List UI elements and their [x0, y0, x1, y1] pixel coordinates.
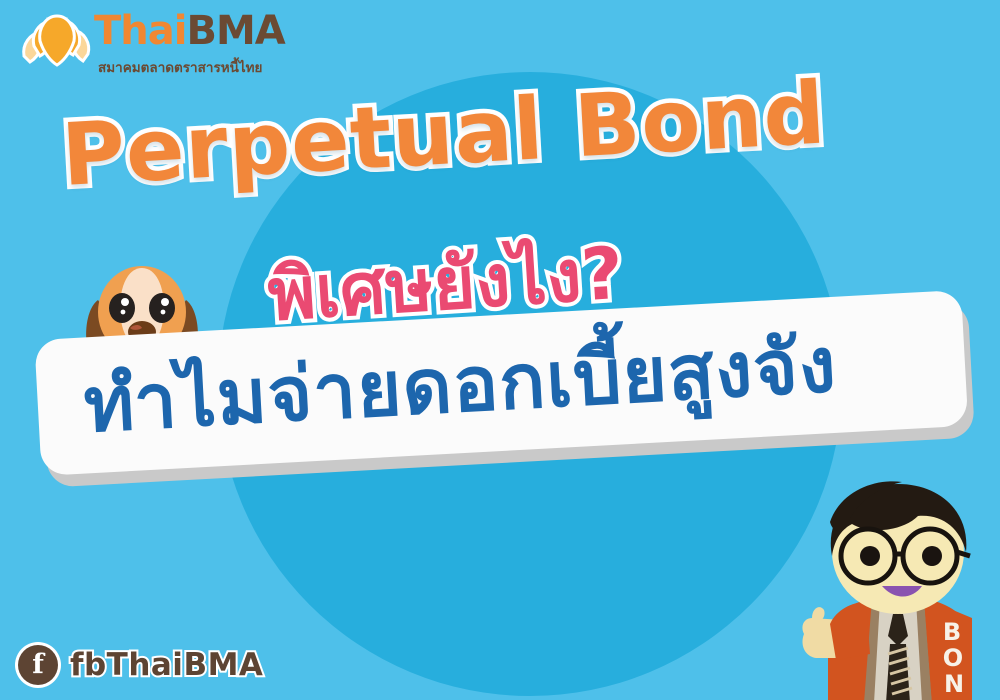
- logo-wordmark: ThaiBMA: [94, 8, 294, 60]
- facebook-handle[interactable]: fbThaiBMA: [70, 648, 263, 682]
- jacket-letter-n: N: [944, 670, 964, 698]
- logo-word-bma: BMA: [186, 8, 284, 54]
- lotus-flower-icon: [18, 10, 96, 76]
- facebook-glyph: f: [32, 651, 44, 678]
- facebook-footer[interactable]: f fbThaiBMA: [18, 644, 263, 686]
- bond-boy-mascot: B O N: [790, 468, 1000, 700]
- logo-subtitle: สมาคมตลาดตราสารหนี้ไทย: [98, 56, 262, 78]
- banner-text: ทำไมจ่ายดอกเบี้ยสูงจัง: [81, 315, 839, 456]
- facebook-icon[interactable]: f: [18, 645, 58, 685]
- poster-canvas: ThaiBMA สมาคมตลาดตราสารหนี้ไทย Perpetual…: [0, 0, 1000, 700]
- jacket-letter-o: O: [943, 644, 963, 672]
- logo-word-thai: Thai: [94, 8, 186, 54]
- jacket-letter-b: B: [943, 618, 961, 646]
- thaibma-logo[interactable]: ThaiBMA สมาคมตลาดตราสารหนี้ไทย: [18, 6, 293, 86]
